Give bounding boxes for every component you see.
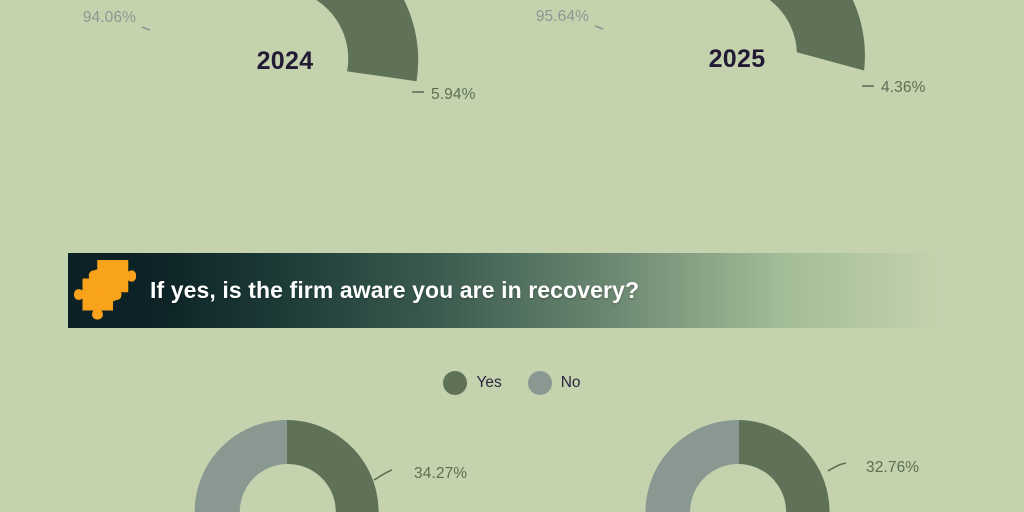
section-banner: If yes, is the firm aware you are in rec… (68, 253, 945, 328)
donut-slice-yes-2025[interactable] (756, 0, 865, 71)
leader-line-no-2025 (595, 26, 603, 29)
legend-item-yes[interactable]: Yes (443, 371, 501, 395)
donut-slice-yes-2024[interactable] (310, 0, 419, 81)
legend-swatch-yes-icon (443, 371, 467, 395)
donut-center-year-2025: 2025 (709, 45, 766, 73)
legend-item-no[interactable]: No (528, 371, 581, 395)
leader-line-no-2024 (142, 27, 150, 30)
donut-label-no-2025: 95.64% (536, 8, 589, 25)
donut-chart-bottom-left[interactable]: 34.27% (195, 420, 468, 512)
donut-slice-yes-bottom-right[interactable] (739, 420, 830, 512)
donut-label-yes-bottom-left: 34.27% (414, 465, 467, 482)
puzzle-piece-icon (68, 253, 140, 328)
chart-legend: Yes No (0, 371, 1024, 395)
leader-line-yes-bottom-left (374, 470, 392, 480)
donut-label-yes-2024: 5.94% (431, 86, 476, 103)
banner-title: If yes, is the firm aware you are in rec… (150, 277, 639, 304)
donut-chart-bottom-right[interactable]: 32.76% (646, 420, 920, 512)
donut-label-yes-2025: 4.36% (881, 79, 926, 96)
dashboard-canvas: 94.06% 5.94% 2024 95.64% 4.36% 2025 34.2… (0, 0, 1024, 512)
donut-slice-yes-bottom-left[interactable] (287, 420, 379, 512)
legend-label-yes: Yes (476, 375, 501, 391)
donut-label-no-2024: 94.06% (83, 9, 136, 26)
donut-center-year-2024: 2024 (257, 47, 314, 75)
donut-label-yes-bottom-right: 32.76% (866, 459, 919, 476)
leader-line-yes-bottom-right (828, 463, 846, 471)
legend-label-no: No (561, 375, 581, 391)
donut-chart-2025[interactable]: 95.64% 4.36% 2025 (536, 0, 926, 96)
legend-swatch-no-icon (528, 371, 552, 395)
puzzle-piece-icon-svg (72, 260, 136, 322)
donut-chart-2024[interactable]: 94.06% 5.94% 2024 (83, 0, 476, 103)
